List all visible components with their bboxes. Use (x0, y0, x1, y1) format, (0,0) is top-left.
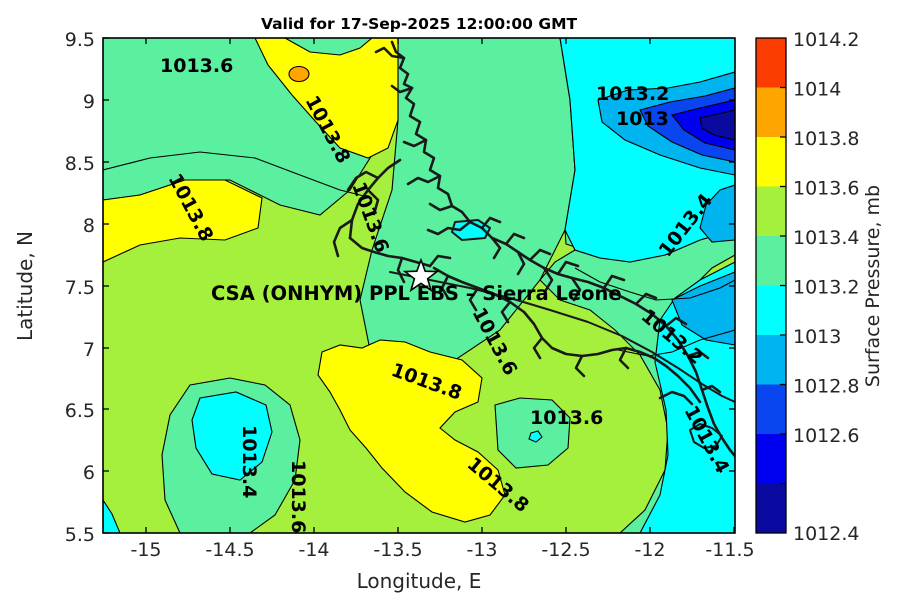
colorbar-tick-label: 1014 (793, 79, 841, 101)
colorbar-tick-label: 1012.4 (793, 523, 859, 545)
colorbar-swatch (756, 187, 786, 237)
x-tick-label: -13 (466, 539, 497, 561)
y-axis-title: Latitude, N (13, 231, 37, 341)
x-tick-label: -13.5 (373, 539, 422, 561)
x-tick-label: -12 (634, 539, 665, 561)
contour-label: 1013 (616, 108, 669, 130)
colorbar-tick-label: 1013 (793, 326, 841, 348)
x-tick-label: -14.5 (205, 539, 254, 561)
colorbar-tick-label: 1014.2 (793, 29, 859, 51)
colorbar-swatch (756, 335, 786, 385)
y-tick-label: 6.5 (65, 400, 95, 422)
colorbar-swatch (756, 137, 786, 187)
x-tick-label: -12.5 (541, 539, 590, 561)
y-tick-label: 6 (83, 462, 95, 484)
contour-label: 1013.6 (160, 55, 233, 77)
colorbar-title: Surface Pressure, mb (862, 185, 884, 387)
colorbar-swatch (756, 38, 786, 88)
colorbar-swatch (756, 236, 786, 286)
y-tick-label: 9 (83, 91, 95, 113)
colorbar-swatch (756, 484, 786, 534)
contour-label: 1013.6 (287, 460, 309, 533)
high-pressure-spot (289, 67, 309, 82)
contour-label: 1013.6 (530, 407, 603, 429)
x-tick-label: -15 (130, 539, 161, 561)
x-tick-label: -11.5 (705, 539, 754, 561)
colorbar-swatch (756, 286, 786, 336)
y-tick-label: 7 (83, 339, 95, 361)
colorbar-tick-label: 1013.6 (793, 178, 859, 200)
contour-label: 1013.4 (238, 425, 260, 498)
colorbar-tick-label: 1012.6 (793, 425, 859, 447)
y-tick-label: 9.5 (65, 29, 95, 51)
contour-label: 1013.2 (596, 83, 669, 105)
figure-canvas: 1013.6 1013.8 1013.8 1013.6 1013.2 1013 … (0, 0, 900, 600)
colorbar-tick-label: 1013.2 (793, 277, 859, 299)
colorbar-tick-label: 1013.4 (793, 227, 859, 249)
plot-title: Valid for 17-Sep-2025 12:00:00 GMT (261, 15, 578, 33)
colorbar-tick-label: 1012.8 (793, 376, 859, 398)
colorbar-swatch (756, 88, 786, 138)
x-axis-title: Longitude, E (357, 569, 482, 593)
x-tick-label: -14 (298, 539, 329, 561)
colorbar-swatch (756, 434, 786, 484)
y-tick-label: 5.5 (65, 524, 95, 546)
pressure-map-figure: 1013.6 1013.8 1013.8 1013.6 1013.2 1013 … (0, 0, 900, 600)
site-label: CSA (ONHYM) PPL EBS – Sierra Leone (211, 282, 622, 305)
colorbar-tick-label: 1013.8 (793, 128, 859, 150)
y-tick-label: 8 (83, 215, 95, 237)
colorbar-swatch (756, 385, 786, 435)
y-tick-label: 7.5 (65, 277, 95, 299)
contour-plot-area: 1013.6 1013.8 1013.8 1013.6 1013.2 1013 … (103, 38, 735, 533)
y-tick-label: 8.5 (65, 153, 95, 175)
